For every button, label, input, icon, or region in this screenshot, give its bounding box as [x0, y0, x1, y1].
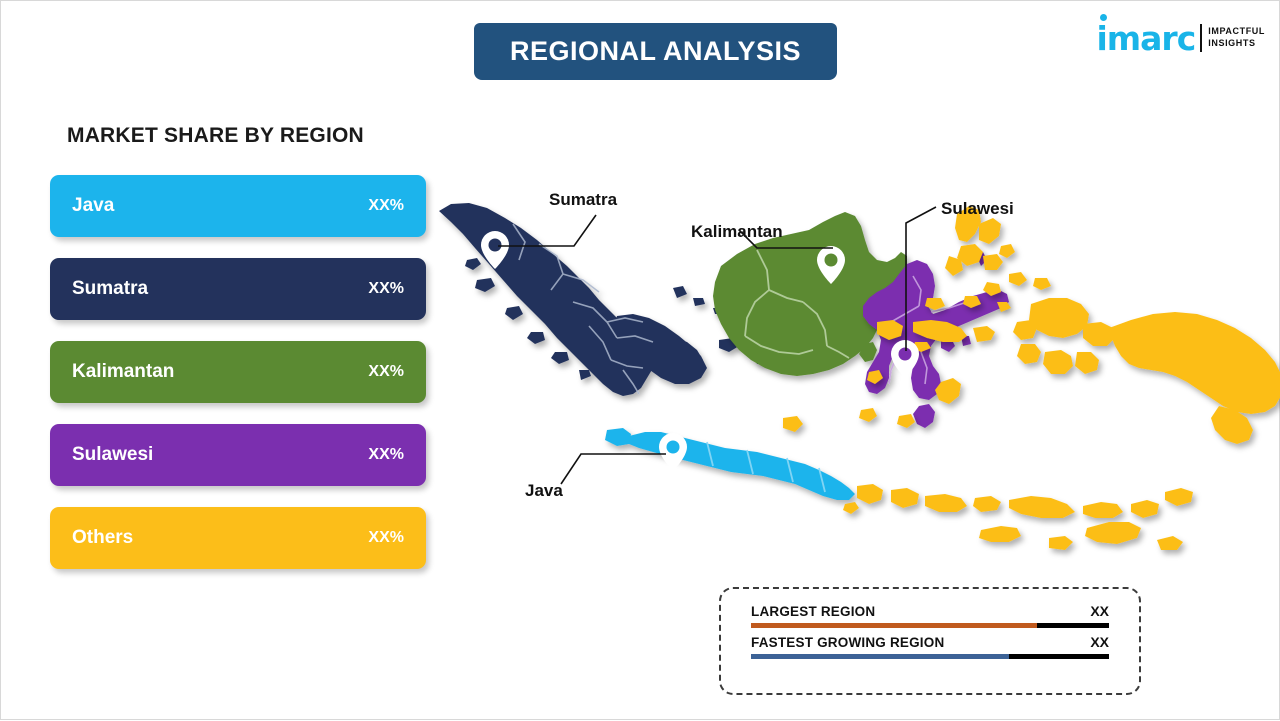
info-row-value: XX: [1090, 634, 1109, 650]
legend-bar-value: XX%: [368, 446, 404, 464]
legend-bar-value: XX%: [368, 280, 404, 298]
legend-bar-label: Sulawesi: [72, 444, 153, 466]
indonesia-map: [421, 156, 1280, 576]
page-title: REGIONAL ANALYSIS: [510, 36, 801, 67]
legend-bar-value: XX%: [368, 529, 404, 547]
map-label-kalimantan: Kalimantan: [691, 222, 783, 242]
legend-bar-others[interactable]: OthersXX%: [50, 507, 426, 569]
info-row: FASTEST GROWING REGIONXX: [751, 634, 1109, 659]
map-svg: [421, 156, 1280, 576]
legend-bar-value: XX%: [368, 363, 404, 381]
legend-bar-label: Java: [72, 195, 114, 217]
legend-heading: MARKET SHARE BY REGION: [67, 124, 364, 148]
logo-divider: [1200, 24, 1202, 52]
legend-bar-label: Others: [72, 527, 133, 549]
legend-bar-label: Kalimantan: [72, 361, 174, 383]
logo-tagline-line1: IMPACTFUL: [1208, 26, 1265, 37]
info-row-head: LARGEST REGIONXX: [751, 603, 1109, 619]
legend-bar-kalimantan[interactable]: KalimantanXX%: [50, 341, 426, 403]
logo-tagline-line2: INSIGHTS: [1208, 38, 1265, 49]
legend-list: JavaXX%SumatraXX%KalimantanXX%SulawesiXX…: [50, 175, 426, 590]
legend-bar-label: Sumatra: [72, 278, 148, 300]
legend-bar-sulawesi[interactable]: SulawesiXX%: [50, 424, 426, 486]
info-row-track: [751, 654, 1109, 659]
info-row-label: FASTEST GROWING REGION: [751, 635, 944, 650]
info-row-track: [751, 623, 1109, 628]
legend-bar-value: XX%: [368, 197, 404, 215]
legend-bar-sumatra[interactable]: SumatraXX%: [50, 258, 426, 320]
info-row-head: FASTEST GROWING REGIONXX: [751, 634, 1109, 650]
slide-title-banner: REGIONAL ANALYSIS: [474, 23, 837, 80]
info-row-fill: [751, 654, 1009, 659]
legend-bar-java[interactable]: JavaXX%: [50, 175, 426, 237]
region-highlights-box: LARGEST REGIONXXFASTEST GROWING REGIONXX: [719, 587, 1141, 695]
map-label-sulawesi: Sulawesi: [941, 199, 1014, 219]
logo-tagline: IMPACTFUL INSIGHTS: [1208, 26, 1265, 52]
logo-wordmark: imarc: [1096, 23, 1195, 54]
map-label-sumatra: Sumatra: [549, 190, 617, 210]
info-row-label: LARGEST REGION: [751, 604, 875, 619]
map-pin-java[interactable]: [659, 433, 687, 471]
logo-mark: imarc: [1096, 23, 1195, 54]
map-label-java: Java: [525, 481, 563, 501]
map-region-java: [605, 428, 855, 500]
info-row-fill: [751, 623, 1037, 628]
info-row: LARGEST REGIONXX: [751, 603, 1109, 628]
imarc-logo: imarc IMPACTFUL INSIGHTS: [1096, 17, 1265, 61]
info-row-value: XX: [1090, 603, 1109, 619]
